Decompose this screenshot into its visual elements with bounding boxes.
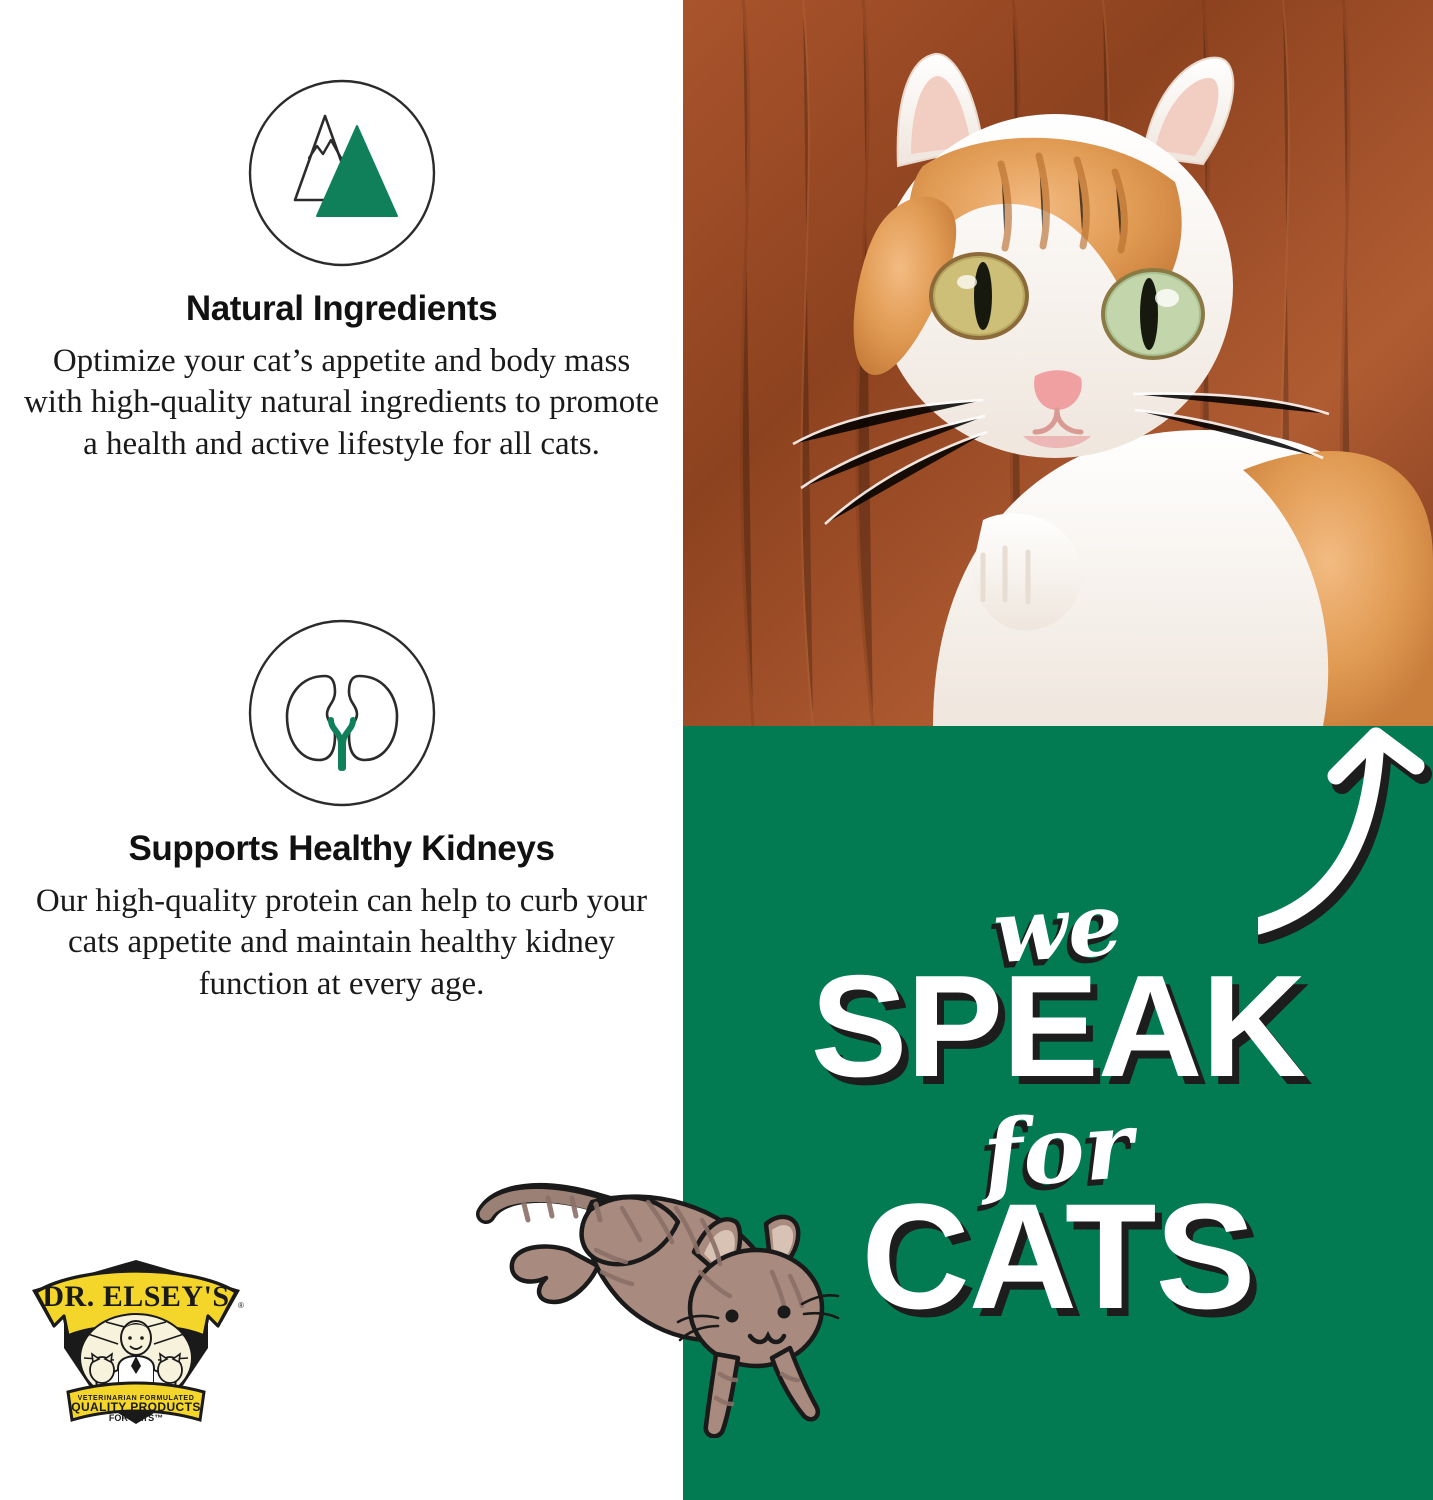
feature-block-healthy-kidneys: Supports Healthy Kidneys Our high-qualit…	[0, 618, 683, 1006]
feature-title: Natural Ingredients	[0, 290, 683, 329]
leaping-cat-illustration	[472, 1168, 852, 1438]
logo-registered-icon: ®	[238, 1301, 244, 1310]
feature-title: Supports Healthy Kidneys	[0, 830, 683, 869]
brand-logo-dr-elseys: DR. ELSEY'S ®	[22, 1252, 250, 1432]
mountain-icon	[247, 78, 437, 268]
product-feature-graphic: Natural Ingredients Optimize your cat’s …	[0, 0, 1433, 1500]
feature-icon-wrap	[0, 618, 683, 808]
logo-tagline-line2: QUALITY PRODUCTS	[71, 1400, 201, 1414]
logo-name: DR. ELSEY'S	[42, 1280, 229, 1313]
feature-description: Our high-quality protein can help to cur…	[22, 881, 662, 1007]
feature-description: Optimize your cat’s appetite and body ma…	[22, 341, 662, 467]
kidney-icon	[247, 618, 437, 808]
feature-icon-wrap	[0, 78, 683, 268]
feature-block-natural-ingredients: Natural Ingredients Optimize your cat’s …	[0, 78, 683, 466]
cat-photo	[683, 0, 1433, 726]
logo-tagline-line3: FOR CATS™	[109, 1413, 163, 1423]
